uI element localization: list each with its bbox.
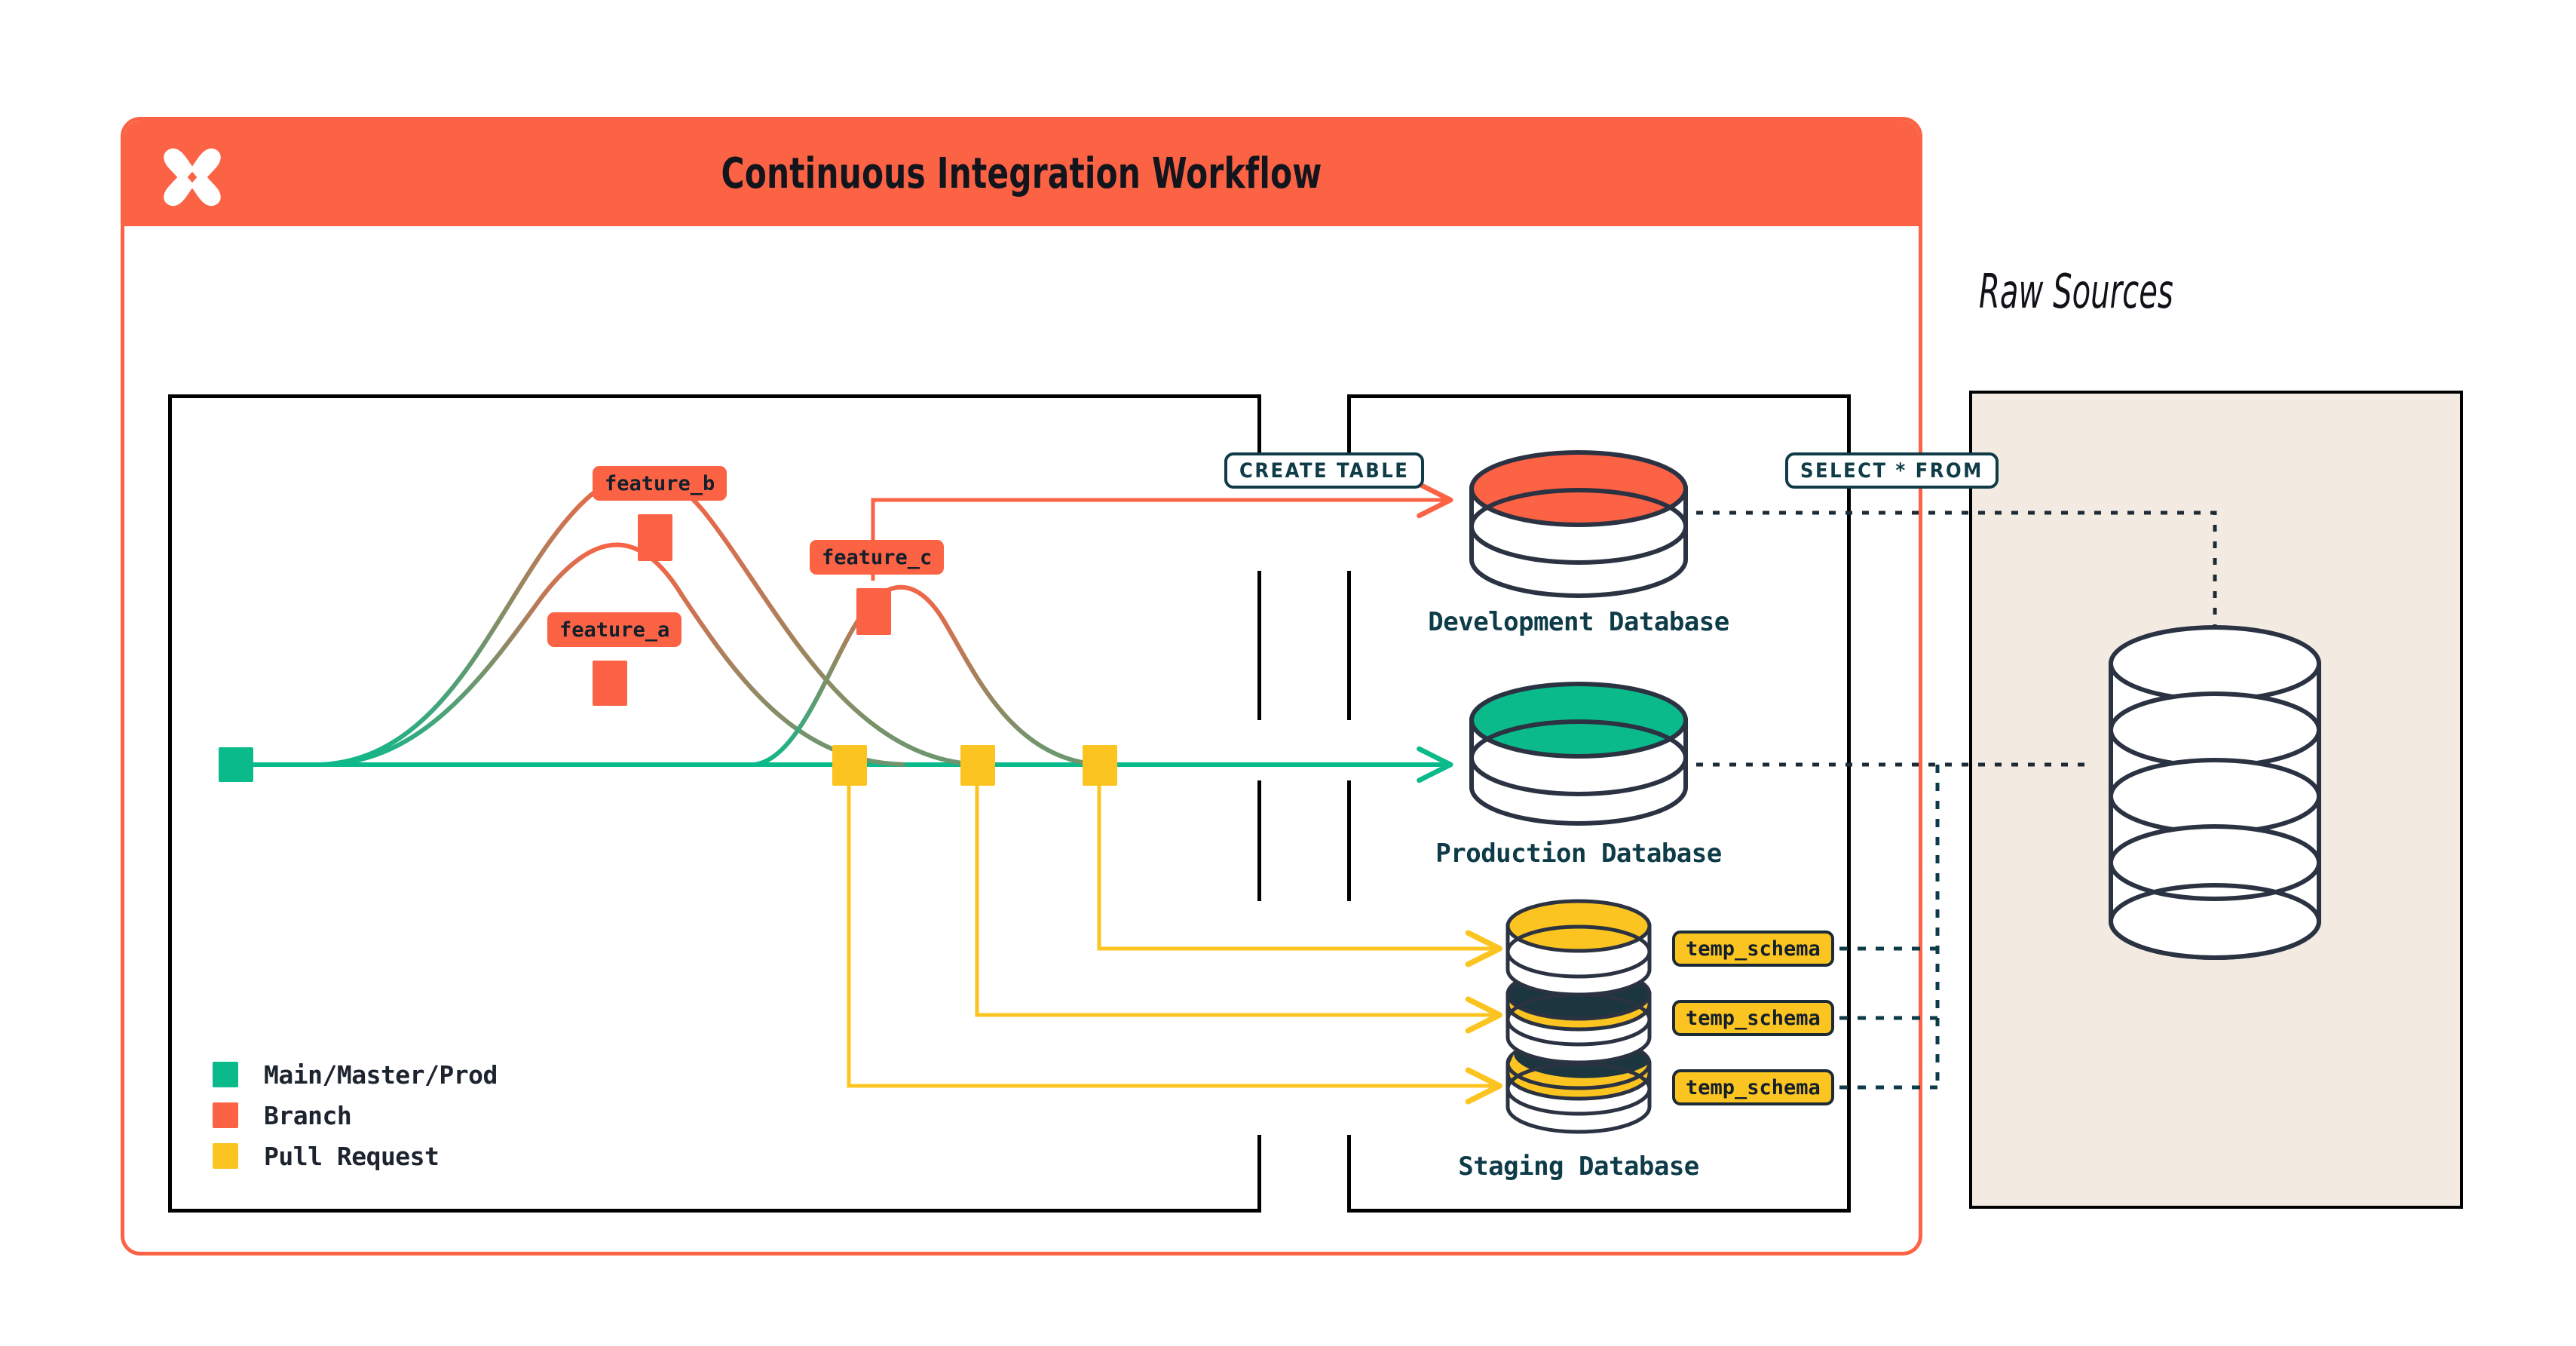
panel-gap-prod-left xyxy=(1251,720,1263,780)
panel-gap-staging-right xyxy=(1340,901,1352,1135)
db-label-staging: Staging Database xyxy=(1458,1151,1699,1182)
panel-raw-sources xyxy=(1969,391,2463,1209)
legend-item-main: Main/Master/Prod xyxy=(213,1054,498,1095)
panel-target-database-bottom xyxy=(1347,1209,1851,1213)
schema-pill-1[interactable]: temp_schema xyxy=(1672,931,1834,967)
commit-node-feature-b[interactable] xyxy=(638,514,672,561)
db-label-development: Development Database xyxy=(1428,607,1729,637)
panel-gap-prod-out-right xyxy=(1903,720,1915,780)
panel-target-database-top xyxy=(1347,394,1851,398)
branch-label-feature-c[interactable]: feature_c xyxy=(810,540,944,575)
section-label-raw-sources: Raw Sources xyxy=(1979,264,2173,319)
legend-label-main: Main/Master/Prod xyxy=(264,1060,498,1090)
sql-badge-select-from[interactable]: SELECT * FROM xyxy=(1785,452,1999,489)
legend-swatch-pull-request xyxy=(213,1143,238,1169)
legend-swatch-branch xyxy=(213,1102,238,1128)
x-star-logo-icon xyxy=(158,143,226,211)
panel-gap-staging-left xyxy=(1251,901,1263,1135)
commit-node-feature-a[interactable] xyxy=(593,661,627,706)
schema-pill-3[interactable]: temp_schema xyxy=(1672,1069,1834,1105)
legend-swatch-main xyxy=(213,1062,238,1087)
commit-node-feature-c[interactable] xyxy=(856,588,891,635)
legend-item-branch: Branch xyxy=(213,1095,498,1136)
legend-label-branch: Branch xyxy=(264,1101,351,1130)
branch-label-feature-a[interactable]: feature_a xyxy=(547,612,682,647)
panel-gap-prod-right xyxy=(1340,720,1352,780)
legend-item-pull-request: Pull Request xyxy=(213,1136,498,1176)
commit-node-main[interactable] xyxy=(219,747,253,782)
pull-request-node-1[interactable] xyxy=(832,745,867,786)
db-label-production: Production Database xyxy=(1435,839,1721,869)
legend: Main/Master/Prod Branch Pull Request xyxy=(213,1054,498,1176)
panel-gap-prod-out-left xyxy=(1814,720,1826,780)
pull-request-node-2[interactable] xyxy=(960,745,995,786)
page-title: Continuous Integration Workflow xyxy=(268,121,1775,226)
pull-request-node-3[interactable] xyxy=(1083,745,1117,786)
panel-gap-schema-right xyxy=(1903,901,1915,1135)
legend-label-pull-request: Pull Request xyxy=(264,1142,439,1171)
sql-badge-create-table[interactable]: CREATE TABLE xyxy=(1224,452,1424,489)
branch-label-feature-b[interactable]: feature_b xyxy=(593,466,727,501)
schema-pill-2[interactable]: temp_schema xyxy=(1672,1000,1834,1036)
